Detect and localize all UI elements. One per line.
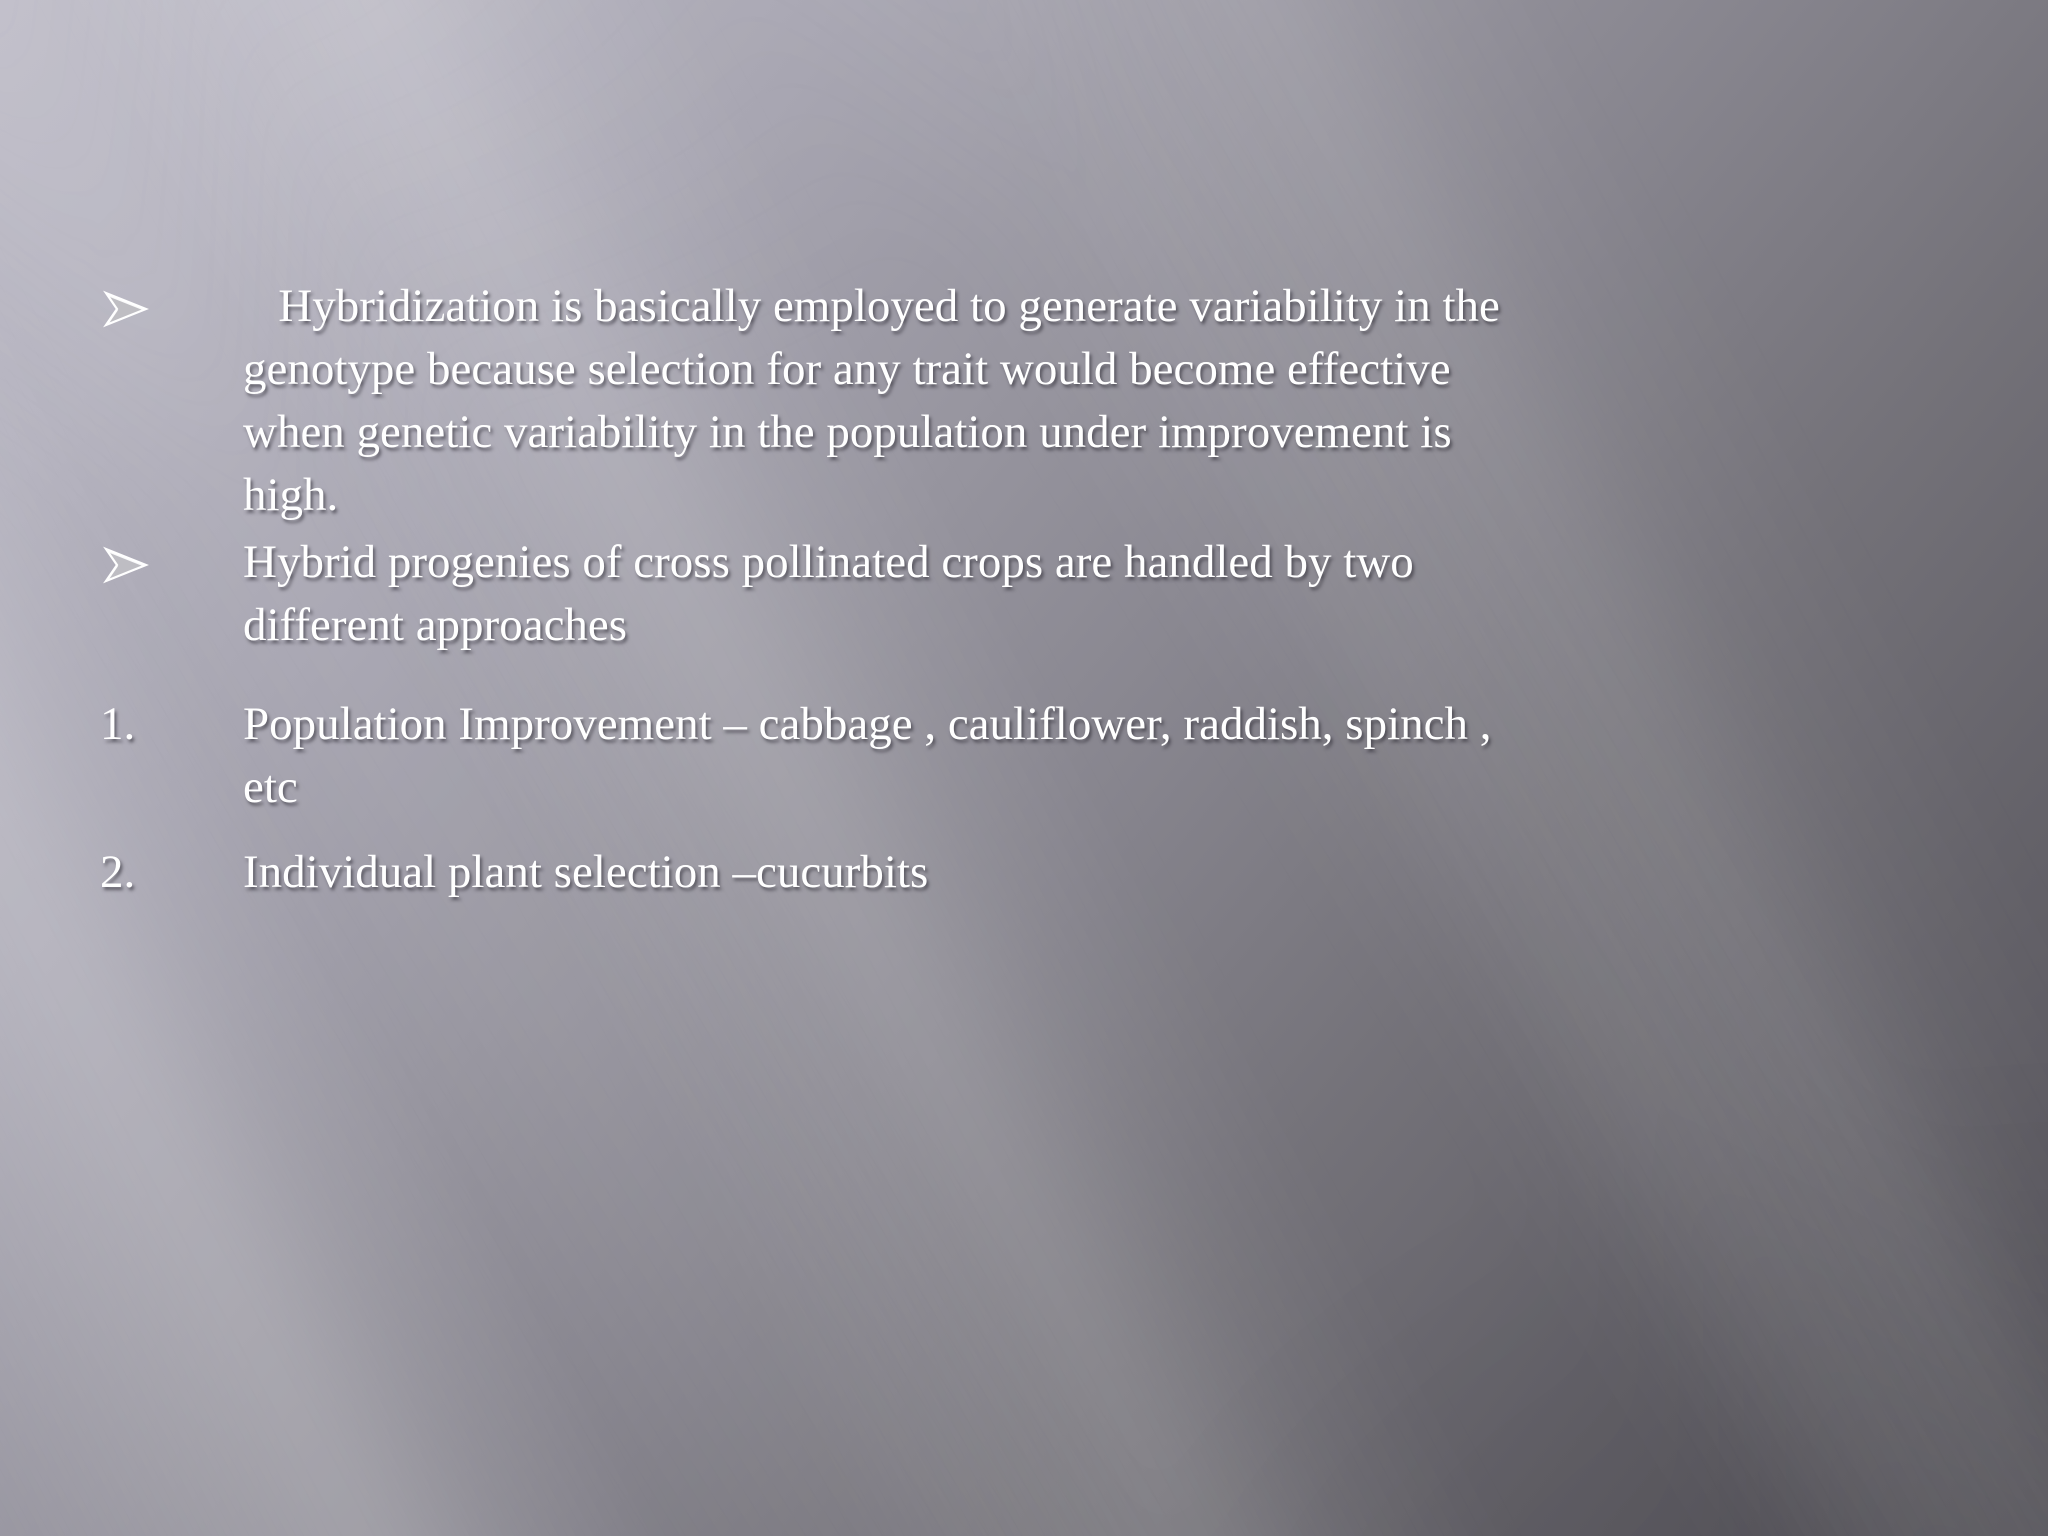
- bullet-item: Hybridization is basically employed to g…: [100, 275, 1520, 527]
- arrowhead-bullet-icon: [100, 289, 152, 329]
- numbered-item-text: Population Improvement – cabbage , cauli…: [243, 698, 1492, 813]
- numbered-item-text: Individual plant selection –cucurbits: [243, 846, 928, 898]
- arrowhead-bullet-icon: [100, 545, 152, 585]
- bullet-item-text: Hybrid progenies of cross pollinated cro…: [243, 531, 1520, 657]
- numbered-item-number: 2.: [100, 841, 243, 904]
- presentation-slide: Hybridization is basically employed to g…: [0, 0, 2048, 1536]
- slide-body-text: Hybridization is basically employed to g…: [100, 275, 1520, 904]
- spacer: [100, 661, 1520, 671]
- numbered-item: 1.Population Improvement – cabbage , cau…: [100, 693, 1520, 819]
- bullet-item: Hybrid progenies of cross pollinated cro…: [100, 531, 1520, 657]
- bullet-item-text: Hybridization is basically employed to g…: [243, 275, 1520, 527]
- numbered-item-number: 1.: [100, 693, 243, 756]
- numbered-item: 2.Individual plant selection –cucurbits: [100, 841, 1520, 904]
